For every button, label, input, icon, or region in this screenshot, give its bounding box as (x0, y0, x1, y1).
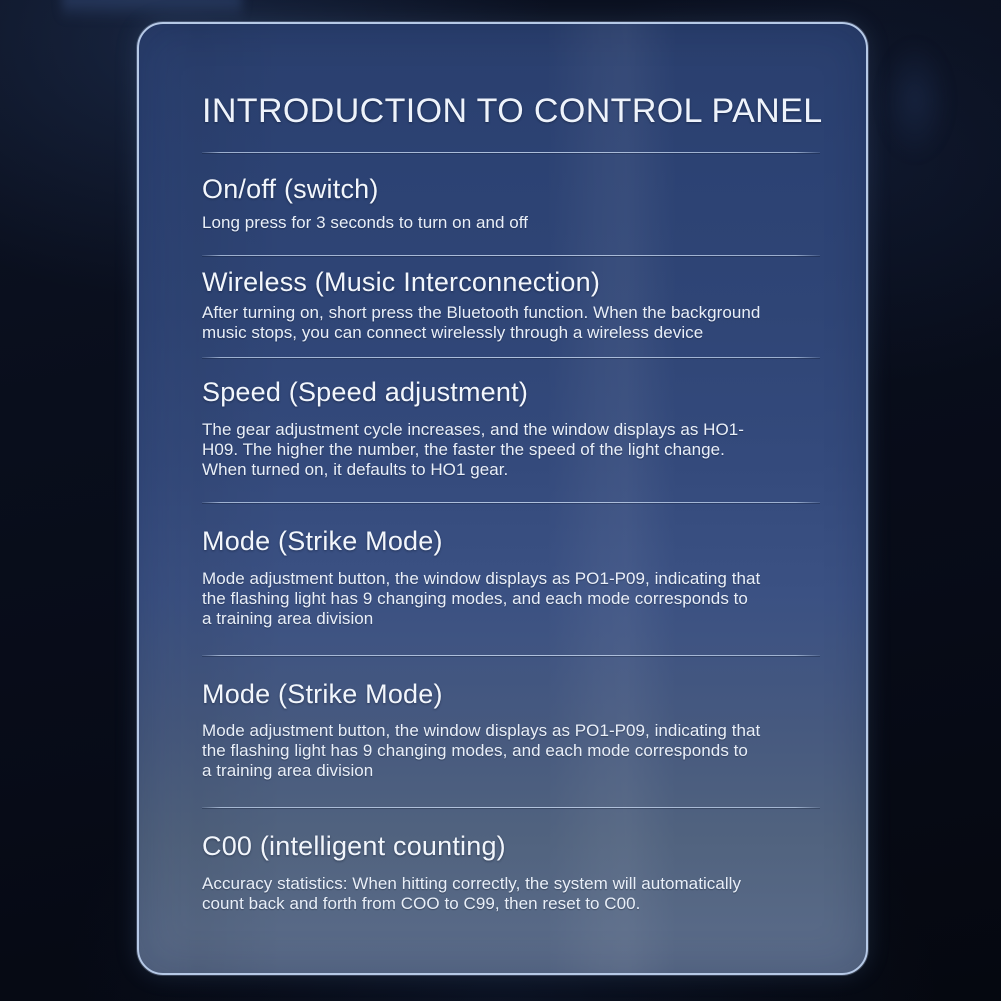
section-body: Accuracy statistics: When hitting correc… (202, 874, 762, 914)
section-heading: Mode (Strike Mode) (202, 527, 820, 557)
section-heading: C00 (intelligent counting) (202, 832, 820, 862)
section-body: Mode adjustment button, the window displ… (202, 569, 762, 629)
page-title: INTRODUCTION TO CONTROL PANEL (202, 92, 823, 131)
divider-3 (202, 502, 820, 503)
page-backdrop: INTRODUCTION TO CONTROL PANEL On/off (sw… (0, 0, 1001, 1001)
section-heading: Wireless (Music Interconnection) (202, 268, 820, 298)
section-onoff: On/off (switch) Long press for 3 seconds… (202, 175, 820, 233)
section-heading: Mode (Strike Mode) (202, 680, 820, 710)
card-content: INTRODUCTION TO CONTROL PANEL On/off (sw… (139, 24, 866, 973)
control-panel-info-card: INTRODUCTION TO CONTROL PANEL On/off (sw… (137, 22, 868, 975)
divider-5 (202, 807, 820, 808)
section-body: After turning on, short press the Blueto… (202, 303, 762, 343)
section-mode-1: Mode (Strike Mode) Mode adjustment butto… (202, 527, 820, 629)
divider-1 (202, 255, 820, 256)
section-body: Mode adjustment button, the window displ… (202, 721, 762, 781)
section-speed: Speed (Speed adjustment) The gear adjust… (202, 378, 820, 480)
section-mode-2: Mode (Strike Mode) Mode adjustment butto… (202, 680, 820, 782)
section-list: On/off (switch) Long press for 3 seconds… (202, 152, 820, 914)
section-heading: Speed (Speed adjustment) (202, 378, 820, 408)
section-wireless: Wireless (Music Interconnection) After t… (202, 268, 820, 344)
section-body: Long press for 3 seconds to turn on and … (202, 213, 762, 233)
section-counting: C00 (intelligent counting) Accuracy stat… (202, 832, 820, 914)
section-heading: On/off (switch) (202, 175, 820, 205)
section-body: The gear adjustment cycle increases, and… (202, 420, 762, 480)
divider-4 (202, 655, 820, 656)
divider-top (202, 152, 820, 153)
divider-2 (202, 357, 820, 358)
